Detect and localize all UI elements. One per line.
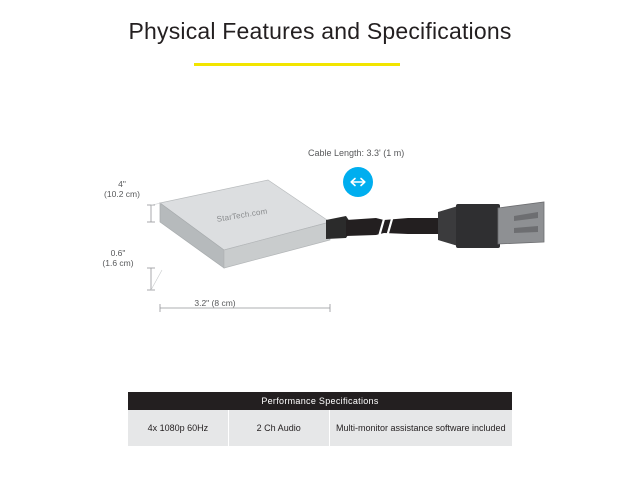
cable xyxy=(346,218,440,236)
usb-metal-connector xyxy=(498,202,544,244)
dimension-depth-cm: (1.6 cm) xyxy=(96,258,140,268)
spec-table-row: 4x 1080p 60Hz 2 Ch Audio Multi-monitor a… xyxy=(128,410,512,446)
cable-length-callout: Cable Length: 3.3' (1 m) xyxy=(308,148,404,158)
extension-line-bottom xyxy=(151,270,162,290)
cable-length-badge xyxy=(343,167,373,197)
page-root: Physical Features and Specifications xyxy=(0,0,640,480)
performance-specifications-table: Performance Specifications 4x 1080p 60Hz… xyxy=(128,392,512,446)
spec-cell-resolution: 4x 1080p 60Hz xyxy=(128,410,228,446)
spec-cell-audio: 2 Ch Audio xyxy=(228,410,329,446)
dimension-depth-inches: 0.6" xyxy=(96,248,140,258)
double-arrow-icon xyxy=(343,167,373,197)
spec-table-header: Performance Specifications xyxy=(128,392,512,410)
spec-cell-software: Multi-monitor assistance software includ… xyxy=(329,410,512,446)
dimension-height-inches: 4" xyxy=(100,179,144,189)
usb-plug-housing xyxy=(438,206,458,246)
dimension-height-cm: (10.2 cm) xyxy=(100,189,144,199)
page-title: Physical Features and Specifications xyxy=(0,18,640,45)
usb-plug-body xyxy=(456,204,500,248)
dimension-height-label: 4" (10.2 cm) xyxy=(100,179,144,199)
dimension-width-label: 3.2" (8 cm) xyxy=(155,298,275,308)
product-illustration: StarTech.com 4" (10.2 cm) 0.6" (1.6 cm) … xyxy=(0,120,640,340)
dimension-depth-label: 0.6" (1.6 cm) xyxy=(96,248,140,268)
title-underline-rule xyxy=(194,63,400,66)
